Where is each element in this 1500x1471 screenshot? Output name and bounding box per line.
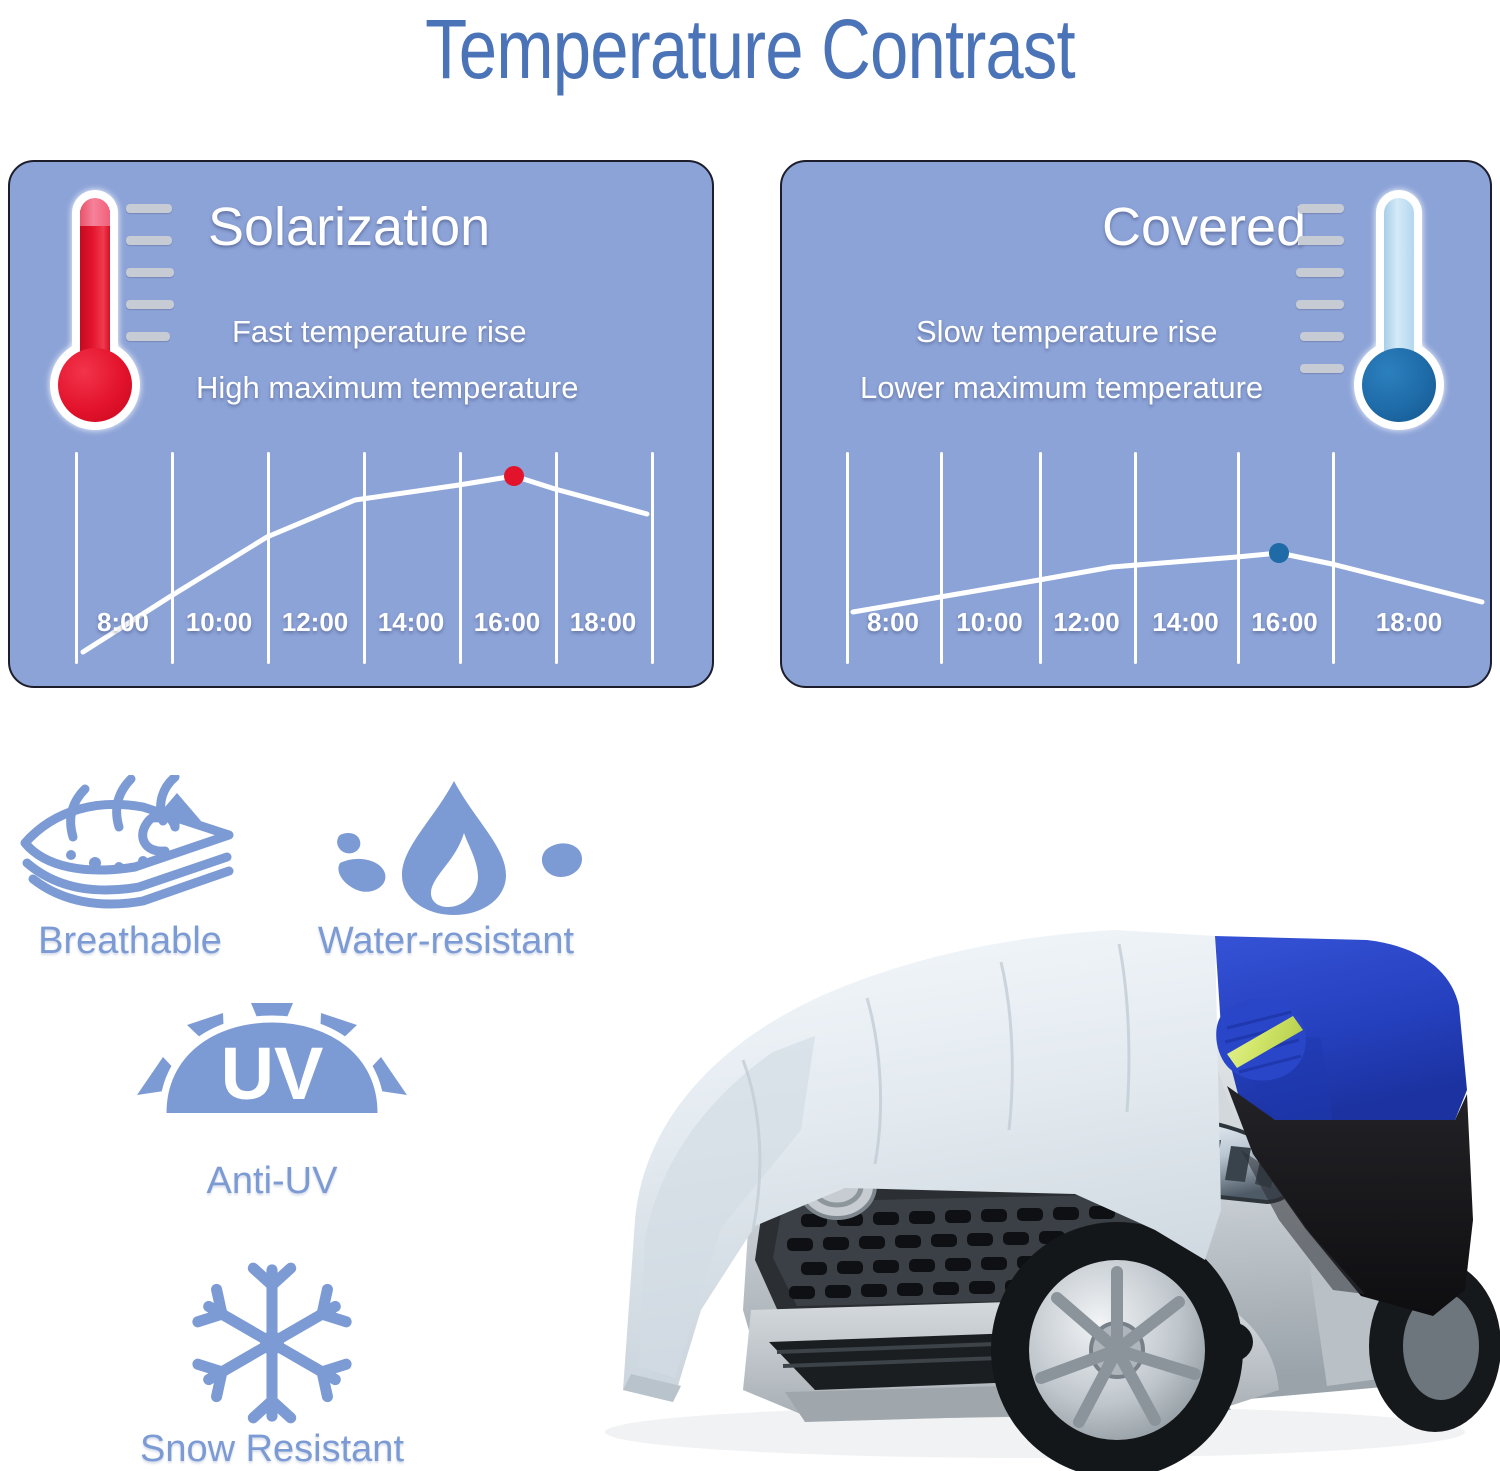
chart-xtick-label: 18:00 [1354,607,1464,638]
chart-xtick-label: 16:00 [459,607,555,638]
feature-anti-uv: UV Anti-UV [122,995,422,1203]
peak-marker-dot [1269,543,1289,563]
chart-xtick-label: 14:00 [1134,607,1237,638]
breathable-fabric-icon [15,775,245,920]
feature-label: Snow Resistant [112,1428,432,1471]
feature-snow-resistant: Snow Resistant [112,1258,432,1471]
chart-xtick-label: 10:00 [940,607,1039,638]
chart-xtick-label: 18:00 [555,607,651,638]
chart-xtick-label: 14:00 [363,607,459,638]
chart-xtick-label: 10:00 [171,607,267,638]
chart-xtick-label: 8:00 [846,607,940,638]
chart-xtick-label: 16:00 [1237,607,1332,638]
snowflake-icon [127,1258,417,1428]
temperature-line [853,553,1482,612]
peak-marker-dot [504,466,524,486]
suv-with-car-cover-photo [515,790,1500,1471]
panel-solarization: Solarization Fast temperature rise High … [8,160,714,688]
chart-xtick-label: 12:00 [1039,607,1134,638]
feature-label: Anti-UV [122,1160,422,1203]
sun-uv-icon: UV [127,995,417,1160]
chart-xtick-label: 12:00 [267,607,363,638]
feature-label: Breathable [10,920,250,963]
uv-icon-text: UV [221,1032,324,1115]
solarization-chart: 8:00 10:00 12:00 14:00 16:00 18:00 [10,162,716,690]
feature-breathable: Breathable [10,775,250,963]
covered-chart: 8:00 10:00 12:00 14:00 16:00 18:00 [782,162,1494,690]
panel-covered: Covered Slow temperature rise Lower maxi… [780,160,1492,688]
chart-xtick-label: 8:00 [75,607,171,638]
page-title: Temperature Contrast [135,0,1365,104]
